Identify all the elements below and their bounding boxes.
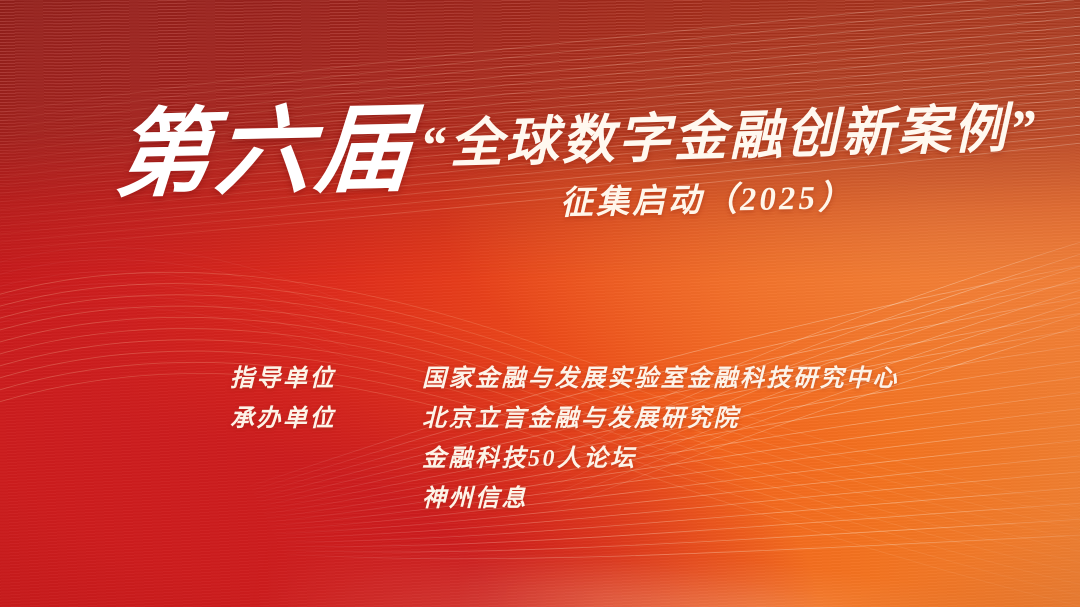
credit-row: 指导单位 国家金融与发展实验室金融科技研究中心 <box>230 358 990 398</box>
credit-row: 神州信息 <box>230 478 990 518</box>
credit-row: 承办单位 北京立言金融与发展研究院 <box>230 398 990 438</box>
credit-row: 金融科技50人论坛 <box>230 438 990 478</box>
credit-value: 神州信息 <box>422 478 990 513</box>
program-title: “全球数字金融创新案例” <box>419 101 1039 175</box>
edition-title: 第六届 <box>112 102 419 204</box>
poster-canvas: 第六届 “全球数字金融创新案例” 征集启动（2025） 指导单位 国家金融与发展… <box>0 0 1080 607</box>
credit-value: 国家金融与发展实验室金融科技研究中心 <box>422 358 990 393</box>
credit-label: 承办单位 <box>230 398 422 433</box>
poster-content: 第六届 “全球数字金融创新案例” 征集启动（2025） 指导单位 国家金融与发展… <box>0 0 1080 607</box>
credit-value: 北京立言金融与发展研究院 <box>422 398 990 433</box>
program-subtitle: 征集启动（2025） <box>560 180 855 222</box>
credit-label: 指导单位 <box>230 358 422 393</box>
credit-value: 金融科技50人论坛 <box>422 438 990 473</box>
credits-block: 指导单位 国家金融与发展实验室金融科技研究中心 承办单位 北京立言金融与发展研究… <box>230 358 990 518</box>
